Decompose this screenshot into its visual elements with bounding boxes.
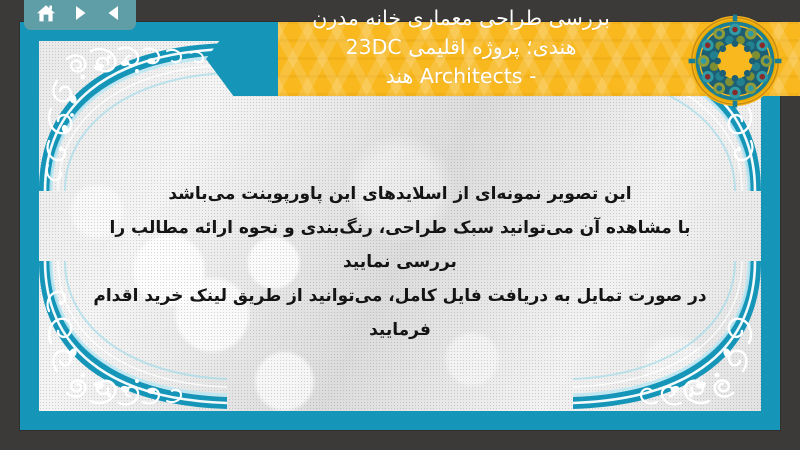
- triangle-left-icon: [105, 4, 123, 22]
- corner-ornament-top-left: [39, 41, 227, 191]
- slide-content-area: این تصویر نمونه‌ای از اسلایدهای این پاور…: [39, 41, 761, 411]
- slide-canvas: این تصویر نمونه‌ای از اسلایدهای این پاور…: [0, 0, 800, 450]
- persian-medallion-ornament-icon: [688, 14, 782, 108]
- home-icon: [36, 4, 56, 23]
- slide-title: بررسی طراحی معماری خانه مدرن هندی؛ پروژه…: [206, 4, 716, 91]
- slide-navigation-bar: [24, 0, 136, 30]
- previous-slide-button[interactable]: [101, 1, 127, 25]
- next-slide-button[interactable]: [67, 1, 93, 25]
- triangle-right-icon: [71, 4, 89, 22]
- home-button[interactable]: [33, 1, 59, 25]
- slide-body-text: این تصویر نمونه‌ای از اسلایدهای این پاور…: [79, 177, 721, 347]
